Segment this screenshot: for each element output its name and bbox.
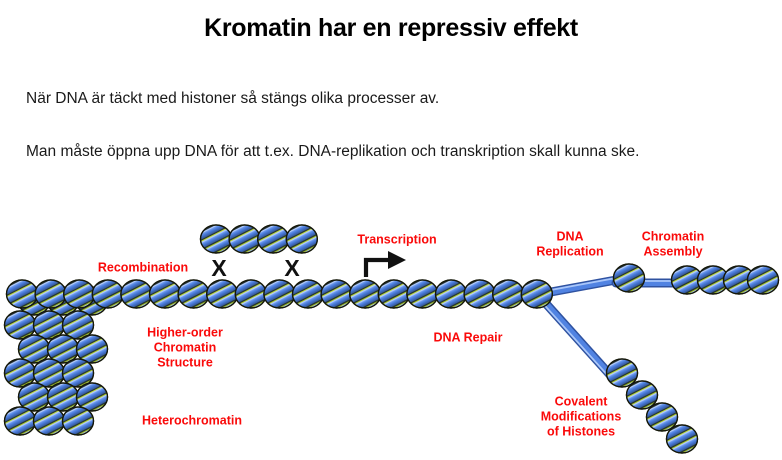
label-dna-replication: DNA Replication: [536, 229, 603, 258]
label-heterochromatin: Heterochromatin: [142, 413, 242, 427]
slide: Kromatin har en repressiv effekt När DNA…: [0, 0, 782, 460]
label-transcription: Transcription: [357, 232, 436, 246]
crossover-x-left: X: [211, 255, 227, 281]
chromatin-diagram-svg: X X Recombination Transcription DNA Repl…: [0, 205, 782, 460]
label-higher-order-line-3: Structure: [157, 355, 213, 369]
label-chromatin-assembly-line-1: Chromatin: [642, 229, 705, 243]
label-chromatin-assembly-line-2: Assembly: [643, 244, 702, 258]
label-covalent-line-1: Covalent: [555, 394, 609, 408]
replication-fork-linkers: [538, 278, 678, 378]
crossover-x-right: X: [284, 255, 300, 281]
label-dna-replication-line-2: Replication: [536, 244, 603, 258]
label-higher-order-line-2: Chromatin: [154, 340, 217, 354]
chromatin-diagram: X X Recombination Transcription DNA Repl…: [0, 205, 782, 460]
label-higher-order-line-1: Higher-order: [147, 325, 223, 339]
label-dna-replication-line-1: DNA: [556, 229, 583, 243]
page-title: Kromatin har en repressiv effekt: [0, 14, 782, 43]
label-dna-repair: DNA Repair: [434, 330, 503, 344]
label-higher-order-chromatin-structure: Higher-order Chromatin Structure: [147, 325, 223, 369]
label-covalent-line-3: of Histones: [547, 424, 615, 438]
transcription-arrow: [366, 251, 406, 277]
recombination-fragment: [188, 212, 330, 265]
body-text-line-2: Man måste öppna upp DNA för att t.ex. DN…: [26, 143, 639, 161]
label-chromatin-assembly: Chromatin Assembly: [642, 229, 705, 258]
body-text-line-1: När DNA är täckt med histoner så stängs …: [26, 90, 439, 108]
chromatin-assembly-run: [659, 253, 782, 306]
label-covalent-modifications-of-histones: Covalent Modifications of Histones: [541, 394, 622, 438]
label-covalent-line-2: Modifications: [541, 409, 622, 423]
label-recombination: Recombination: [98, 260, 188, 274]
lower-branch-nucleosomes: [594, 346, 710, 460]
